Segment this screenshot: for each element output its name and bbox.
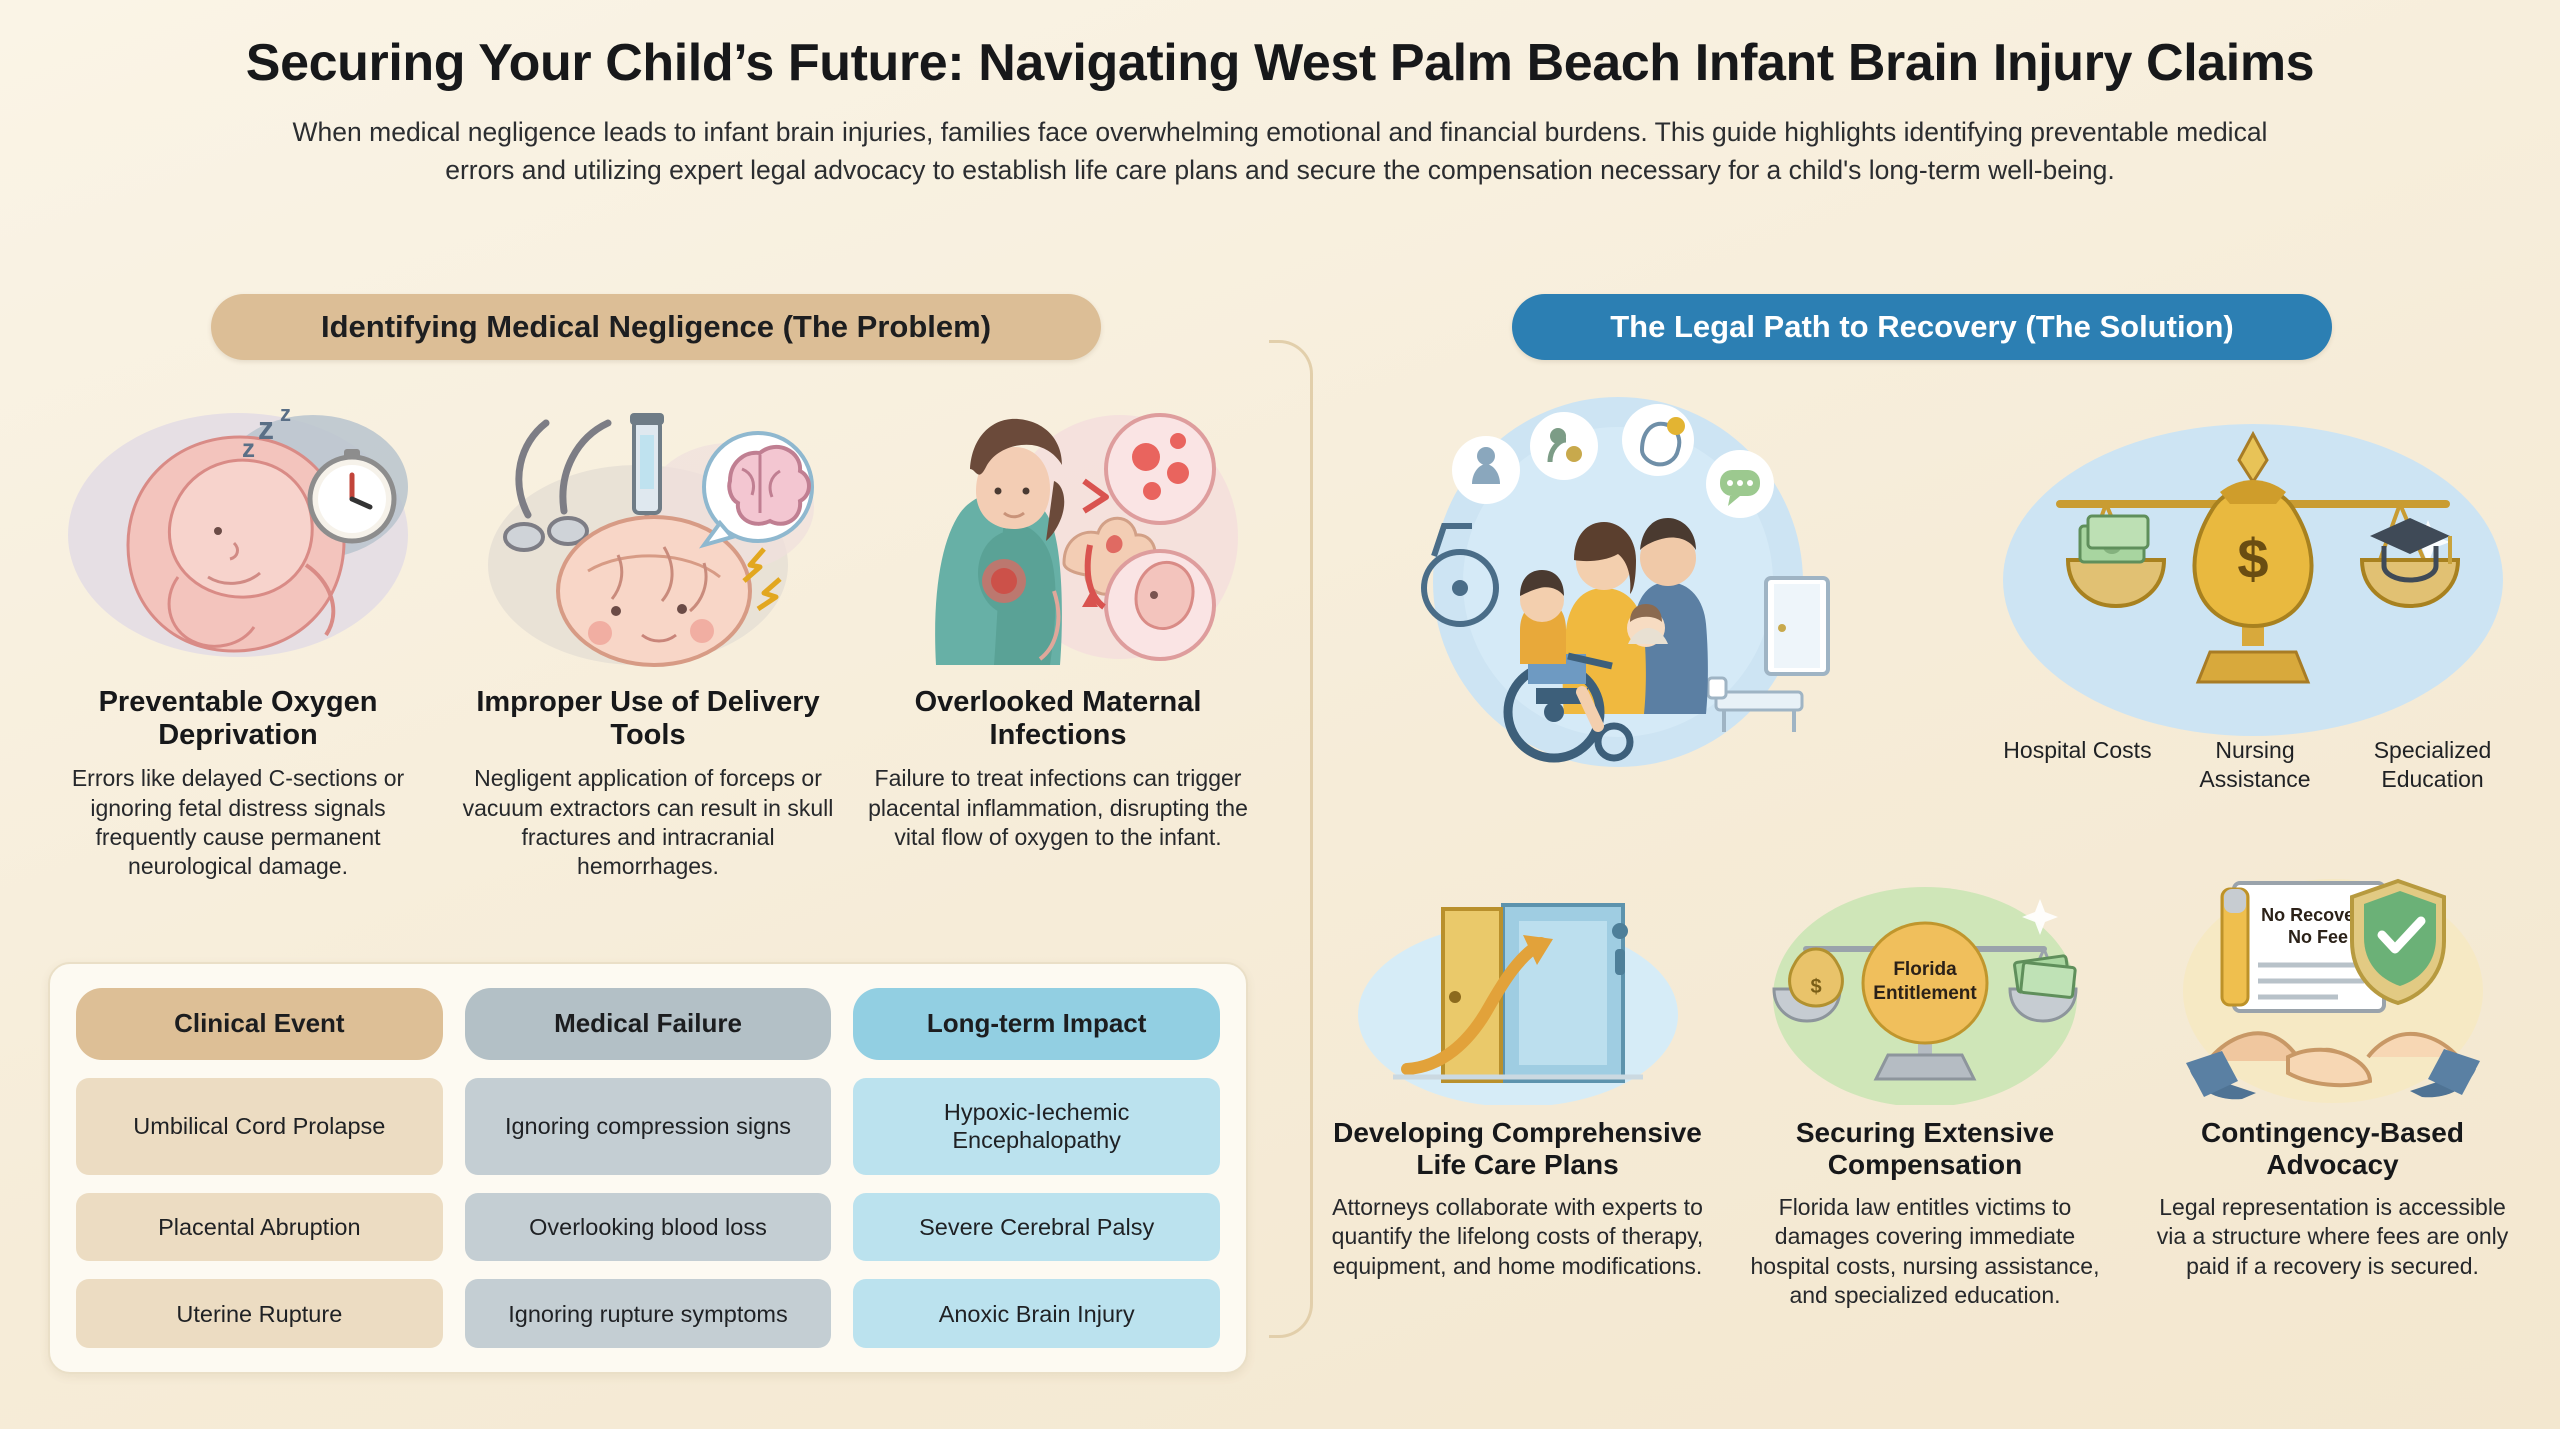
page-title: Securing Your Child’s Future: Navigating… bbox=[0, 34, 2560, 92]
scale-label-nursing-assistance: Nursing Assistance bbox=[2168, 736, 2343, 794]
solution-card-desc: Florida law entitles victims to damages … bbox=[1738, 1193, 2113, 1311]
solution-card-compensation: $ Florida Entitlement Securing Extensive… bbox=[1738, 855, 2113, 1311]
fetus-clock-icon: z z z bbox=[48, 390, 428, 680]
florida-entitlement-label-line2: Entitlement bbox=[1873, 983, 1977, 1004]
header: Securing Your Child’s Future: Navigating… bbox=[0, 0, 2560, 189]
problem-card-delivery-tools: Improper Use of Delivery Tools Negligent… bbox=[458, 390, 838, 882]
problem-card-list: z z z Preventable Oxygen Deprivation Err… bbox=[48, 390, 1248, 882]
clinical-impact-table: Clinical Event Medical Failure Long-term… bbox=[48, 962, 1248, 1374]
solution-card-life-care-plans: Developing Comprehensive Life Care Plans… bbox=[1330, 855, 1705, 1311]
svg-text:z: z bbox=[242, 433, 255, 463]
scale-label-specialized-education: Specialized Education bbox=[2345, 736, 2520, 794]
problem-card-desc: Negligent application of forceps or vacu… bbox=[458, 764, 838, 882]
svg-text:z: z bbox=[258, 410, 274, 446]
solution-card-title: Contingency-Based Advocacy bbox=[2145, 1117, 2520, 1181]
family-support-illustration bbox=[1368, 392, 1868, 792]
no-recovery-no-fee-label-line2: No Fee bbox=[2287, 927, 2347, 947]
handshake-contract-icon: No Recovery, No Fee bbox=[2145, 855, 2520, 1105]
svg-text:$: $ bbox=[1810, 976, 1821, 998]
table-header-clinical-event: Clinical Event bbox=[76, 988, 443, 1060]
table-row: Severe Cerebral Palsy bbox=[853, 1193, 1220, 1262]
problem-card-title: Improper Use of Delivery Tools bbox=[458, 686, 838, 752]
table-header-longterm-impact: Long-term Impact bbox=[853, 988, 1220, 1060]
compensation-scale-illustration: $ bbox=[1998, 400, 2508, 740]
scale-label-hospital-costs: Hospital Costs bbox=[1990, 736, 2165, 794]
table-row: Uterine Rupture bbox=[76, 1279, 443, 1348]
column-divider bbox=[1269, 340, 1313, 1338]
table-header-medical-failure: Medical Failure bbox=[465, 988, 832, 1060]
table-row: Anoxic Brain Injury bbox=[853, 1279, 1220, 1348]
solution-card-contingency: No Recovery, No Fee Conti bbox=[2145, 855, 2520, 1311]
problem-card-maternal-infections: Overlooked Maternal Infections Failure t… bbox=[868, 390, 1248, 882]
table-row: Ignoring compression signs bbox=[465, 1078, 832, 1175]
problem-card-desc: Failure to treat infections can trigger … bbox=[868, 764, 1248, 852]
solution-card-desc: Attorneys collaborate with experts to qu… bbox=[1330, 1193, 1705, 1281]
forceps-syringe-icon bbox=[458, 390, 838, 680]
balance-scale-money-icon: $ Florida Entitlement bbox=[1738, 855, 2113, 1105]
solution-card-list: Developing Comprehensive Life Care Plans… bbox=[1330, 855, 2520, 1311]
page-subtitle: When medical negligence leads to infant … bbox=[270, 114, 2290, 189]
door-growth-arrow-icon bbox=[1330, 855, 1705, 1105]
svg-text:z: z bbox=[280, 401, 291, 426]
table-row: Hypoxic-Iechemic Encephalopathy bbox=[853, 1078, 1220, 1175]
solution-card-title: Developing Comprehensive Life Care Plans bbox=[1330, 1117, 1705, 1181]
table-row: Overlooking blood loss bbox=[465, 1193, 832, 1262]
scale-label-list: Hospital Costs Nursing Assistance Specia… bbox=[1990, 736, 2520, 794]
problem-card-title: Overlooked Maternal Infections bbox=[868, 686, 1248, 752]
infographic-page: Securing Your Child’s Future: Navigating… bbox=[0, 0, 2560, 1429]
table-row: Placental Abruption bbox=[76, 1193, 443, 1262]
problem-card-oxygen-deprivation: z z z Preventable Oxygen Deprivation Err… bbox=[48, 390, 428, 882]
section-header-problem: Identifying Medical Negligence (The Prob… bbox=[211, 294, 1101, 360]
section-header-solution: The Legal Path to Recovery (The Solution… bbox=[1512, 294, 2332, 360]
solution-card-desc: Legal representation is accessible via a… bbox=[2145, 1193, 2520, 1281]
svg-text:$: $ bbox=[2237, 527, 2268, 590]
table-row: Umbilical Cord Prolapse bbox=[76, 1078, 443, 1175]
solution-card-title: Securing Extensive Compensation bbox=[1738, 1117, 2113, 1181]
pregnant-infection-icon bbox=[868, 390, 1248, 680]
florida-entitlement-label-line1: Florida bbox=[1893, 959, 1957, 980]
table-row: Ignoring rupture symptoms bbox=[465, 1279, 832, 1348]
problem-card-title: Preventable Oxygen Deprivation bbox=[48, 686, 428, 752]
problem-card-desc: Errors like delayed C-sections or ignori… bbox=[48, 764, 428, 882]
